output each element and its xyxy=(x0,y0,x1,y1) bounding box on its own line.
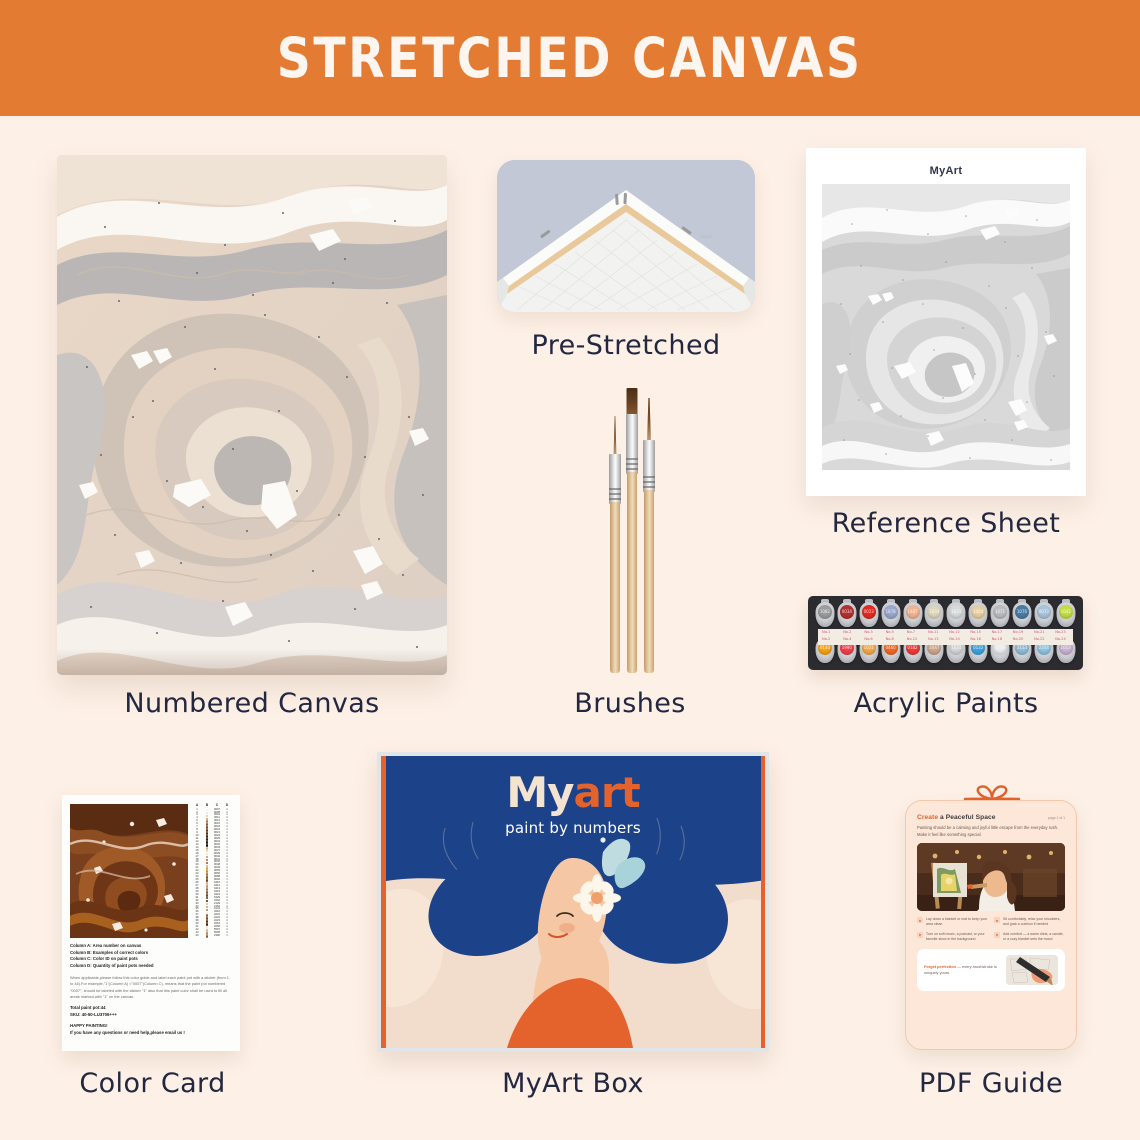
pdf-guide-image: Create a Peaceful Space page 1 of 1 Pain… xyxy=(905,800,1077,1050)
pdf-guide-tip-text: Add comfort — a warm drink, a candle, or… xyxy=(1003,932,1065,943)
color-card-swatch xyxy=(203,935,211,938)
myart-wordmark: Myart xyxy=(381,768,765,817)
paint-strip-label: No.15 xyxy=(970,630,981,634)
brush-handle xyxy=(644,490,654,673)
myart-wordmark-art: art xyxy=(574,768,640,817)
pdf-guide-tip: ●Add comfort — a warm drink, a candle, o… xyxy=(994,932,1065,943)
paint-pot-code: 1076 xyxy=(1017,609,1027,614)
pdf-guide-callout-text: Forget perfection — every brushstroke is… xyxy=(924,964,1000,976)
brush-liner xyxy=(610,416,620,673)
header-banner: STRETCHED CANVAS xyxy=(0,0,1140,116)
paint-strip-label: No.23 xyxy=(1055,630,1066,634)
paint-pot: 0034 xyxy=(836,600,858,630)
color-card-column-header: B xyxy=(203,804,211,808)
paint-strip-label: No.6 xyxy=(864,637,872,641)
brush-handle xyxy=(610,502,620,673)
caption-myart-box: MyArt Box xyxy=(377,1068,769,1099)
paint-pot: 1042 xyxy=(1055,600,1077,630)
color-card-legend-line: Column C: Color ID on paint pots xyxy=(70,956,232,963)
paint-pot-code: 0460 xyxy=(886,645,896,650)
pdf-guide-tip: ●Sit comfortably, relax your shoulders, … xyxy=(994,917,1065,928)
color-card-image: ABCD 10007120008130019140011150012160016… xyxy=(62,795,240,1051)
paint-pot-code: 1487 xyxy=(907,609,917,614)
paint-pot-code: 2204 xyxy=(1039,645,1049,650)
color-card-legend-line: Column D: Quantity of paint pots needed xyxy=(70,963,232,970)
paint-strip-label: No.8 xyxy=(886,637,894,641)
color-card-artwork xyxy=(70,804,188,938)
paint-pot-code: 0023 xyxy=(864,609,874,614)
paint-pot-code: 1654 xyxy=(929,609,939,614)
pdf-guide-subtitle: Painting should be a calming and joyful … xyxy=(917,825,1065,838)
paint-strip-label: No.13 xyxy=(928,637,939,641)
pdf-guide-title: Create a Peaceful Space xyxy=(917,814,996,821)
canvas-depth-edge xyxy=(57,649,447,675)
paint-pot-code: 1013 xyxy=(1061,645,1071,650)
brush-bristles xyxy=(647,398,651,442)
paint-pot-code: 1404 xyxy=(973,609,983,614)
paint-strip-label: No.14 xyxy=(949,637,960,641)
paint-pot-code: 0034 xyxy=(842,609,852,614)
paint-pot-code: 1631 xyxy=(951,609,961,614)
paint-pot-code: 1631 xyxy=(951,645,961,650)
myart-box-right-edge xyxy=(761,756,765,1048)
color-card-contact: If you have any questions or need help,p… xyxy=(70,1030,232,1036)
paint-strip-label: No.18 xyxy=(992,637,1003,641)
pdf-guide-header: Create a Peaceful Space page 1 of 1 xyxy=(917,814,1065,821)
paint-strip-label: No.5 xyxy=(886,630,894,634)
pdf-guide-callout-thumbnail xyxy=(1006,955,1058,985)
color-card-color-id: 2390 xyxy=(213,935,221,938)
pdf-guide-tip-text: Lay down a blanket or mat to keep your a… xyxy=(926,917,988,928)
color-card-footer: HAPPY PAINTING! If you have any question… xyxy=(70,1023,232,1036)
paint-pot-code: 0073 xyxy=(1039,609,1049,614)
caption-acrylic-paints: Acrylic Paints xyxy=(806,688,1086,719)
paint-pot: 1404 xyxy=(967,600,989,630)
caption-color-card: Color Card xyxy=(55,1068,250,1099)
caption-numbered-canvas: Numbered Canvas xyxy=(57,688,447,719)
color-card-top: ABCD 10007120008130019140011150012160016… xyxy=(70,804,232,938)
pre-stretched-image: myart xyxy=(497,160,755,312)
paint-pot-code: 1990 xyxy=(842,645,852,650)
myart-box-face: Myart paint by numbers xyxy=(381,756,765,1048)
pdf-guide-callout: Forget perfection — every brushstroke is… xyxy=(917,949,1065,991)
color-card-legend: Column A: Area number on canvasColumn B:… xyxy=(70,943,232,970)
myart-wordmark-my: My xyxy=(506,768,573,817)
pdf-guide-tips: ●Lay down a blanket or mat to keep your … xyxy=(917,917,1065,942)
paint-strip-label: No.4 xyxy=(843,637,851,641)
paint-pot-code: 1878 xyxy=(886,609,896,614)
paint-pot: 1878 xyxy=(880,600,902,630)
paint-pot: 1082 xyxy=(814,600,836,630)
reference-sheet-artwork xyxy=(822,184,1070,470)
paint-pot-code: 0140 xyxy=(820,645,830,650)
paint-pot-code: 1042 xyxy=(1061,609,1071,614)
caption-brushes: Brushes xyxy=(470,688,790,719)
brush-ferrule xyxy=(643,440,655,492)
music-icon: ● xyxy=(917,932,923,938)
pdf-guide-tip: ●Turn on soft music, a podcast, or your … xyxy=(917,932,988,943)
paint-pot: 0023 xyxy=(858,600,880,630)
svg-text:myart: myart xyxy=(700,234,712,239)
paint-strip-label: No.7 xyxy=(907,630,915,634)
pdf-guide-page-number: page 1 of 1 xyxy=(1048,816,1065,820)
paint-pot-code: 2047 xyxy=(929,645,939,650)
candle-icon: ● xyxy=(994,932,1000,938)
myart-tagline: paint by numbers xyxy=(381,819,765,837)
pdf-guide-tip: ●Lay down a blanket or mat to keep your … xyxy=(917,917,988,928)
broom-icon: ● xyxy=(917,917,923,923)
paint-pot-code: 1071 xyxy=(995,609,1005,614)
color-card-sku: SKU: 40-50-LU3706+++ xyxy=(70,1012,232,1018)
cushion-icon: ● xyxy=(994,917,1000,923)
canvas-frame-corner-photo: myart xyxy=(497,160,755,312)
paint-strip-label: No.12 xyxy=(949,630,960,634)
color-card-area-number: 44 xyxy=(193,935,201,938)
canvas-marble-artwork xyxy=(57,155,447,675)
color-card-legend-line: Column B: Examples of correct colors xyxy=(70,950,232,957)
pdf-guide-title-rest: a Peaceful Space xyxy=(938,814,995,821)
brush-bristles xyxy=(627,388,638,416)
myart-box-left-edge xyxy=(381,756,386,1048)
paint-strip-label: No.21 xyxy=(1034,630,1045,634)
paint-pot-code: 0182 xyxy=(907,645,917,650)
paint-strip-label: No.16 xyxy=(970,637,981,641)
paint-strip-label: No.19 xyxy=(1013,630,1024,634)
reference-sheet-logo: MyArt xyxy=(822,162,1070,180)
color-card-totals: Total paint pot:44 SKU: 40-50-LU3706+++ xyxy=(70,1005,232,1018)
paint-pot-code: 2113 xyxy=(1017,645,1027,650)
pdf-guide-tip-text: Sit comfortably, relax your shoulders, a… xyxy=(1003,917,1065,928)
paint-strip-label: No.17 xyxy=(992,630,1003,634)
paint-strip-label: No.11 xyxy=(928,630,939,634)
paint-pot: 1487 xyxy=(902,600,924,630)
paint-pot: 0073 xyxy=(1033,600,1055,630)
paint-label-strip: No.1No.2No.3No.5No.7No.11No.12No.15No.17… xyxy=(818,629,1073,645)
color-card-legend-line: Column A: Area number on canvas xyxy=(70,943,232,950)
paint-pot: 1076 xyxy=(1011,600,1033,630)
myart-logo: Myart paint by numbers xyxy=(381,768,765,837)
brush-handle xyxy=(627,472,637,673)
color-card-note: When applicable,please follow this color… xyxy=(70,975,232,1001)
color-card-row: 4423901 xyxy=(193,935,232,938)
caption-pre-stretched: Pre-Stretched xyxy=(470,330,782,361)
paint-strip-label: No.2 xyxy=(843,630,851,634)
paint-strip-label: No.20 xyxy=(1013,637,1024,641)
pdf-guide-tip-text: Turn on soft music, a podcast, or your f… xyxy=(926,932,988,943)
paint-pot-code: 1794 xyxy=(995,645,1005,650)
paint-pot: 1071 xyxy=(989,600,1011,630)
paint-pot-code: 1021 xyxy=(864,645,874,650)
paint-strip-label: No.2 xyxy=(822,637,830,641)
caption-reference-sheet: Reference Sheet xyxy=(806,508,1086,539)
infographic-page: STRETCHED CANVAS xyxy=(0,0,1140,1140)
pdf-guide-title-highlight: Create xyxy=(917,814,938,821)
paint-strip-label: No.24 xyxy=(1055,637,1066,641)
paint-pot-code: 0132 xyxy=(973,645,983,650)
brush-flat xyxy=(626,388,638,673)
brush-ferrule xyxy=(626,414,638,474)
color-card-table-body: 1000712000813001914001115001216001617001… xyxy=(193,809,232,938)
paint-strip-label: No.12 xyxy=(907,637,918,641)
caption-pdf-guide: PDF Guide xyxy=(905,1068,1077,1099)
numbered-canvas-image xyxy=(57,155,447,675)
paint-strip-label: No.22 xyxy=(1034,637,1045,641)
myart-box-image: Myart paint by numbers xyxy=(377,752,769,1052)
reference-sheet-image: MyArt xyxy=(806,148,1086,496)
paint-strip-label: No.3 xyxy=(864,630,872,634)
brushes-image xyxy=(592,388,668,673)
acrylic-paints-tray: 1082003400231878148716541631140410711076… xyxy=(808,596,1083,670)
page-title: STRETCHED CANVAS xyxy=(277,26,863,90)
paint-pot: 1654 xyxy=(923,600,945,630)
color-card-table: ABCD 10007120008130019140011150012160016… xyxy=(193,804,232,938)
paint-pot-code: 1082 xyxy=(820,609,830,614)
brush-ferrule xyxy=(609,454,621,504)
pdf-guide-photo xyxy=(917,843,1065,911)
paint-pot: 1631 xyxy=(945,600,967,630)
pdf-guide-callout-highlight: Forget perfection xyxy=(924,964,956,969)
brush-round xyxy=(644,398,654,673)
brush-bristles xyxy=(614,416,617,456)
paint-strip-label: No.1 xyxy=(822,630,830,634)
paint-pot-row-top: 1082003400231878148716541631140410711076… xyxy=(814,600,1077,630)
color-card-quantity: 1 xyxy=(223,935,231,938)
